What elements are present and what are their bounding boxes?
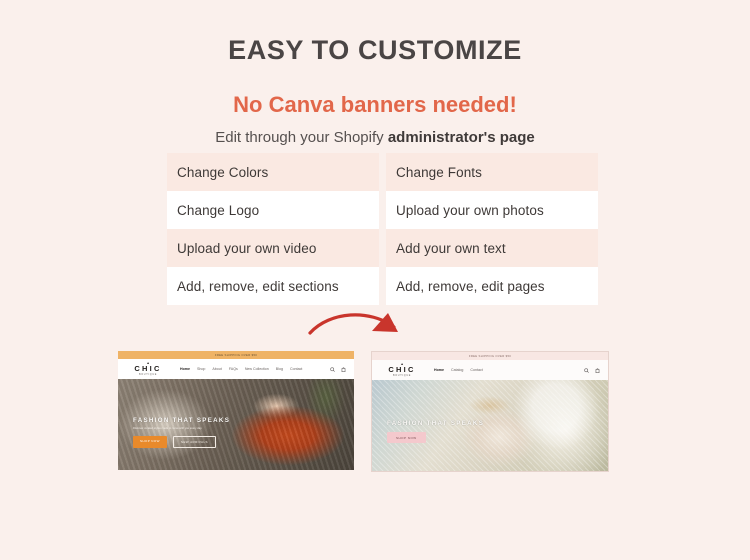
feature-row: Change Logo: [167, 191, 379, 229]
storefront-navbar: ▲ CHIC BOUTIQUE Home Catalog Contact: [372, 360, 608, 380]
feature-row: Add, remove, edit sections: [167, 267, 379, 305]
feature-row: Upload your own video: [167, 229, 379, 267]
store-logo-text: CHIC: [134, 365, 161, 373]
nav-link[interactable]: Shop: [197, 367, 205, 371]
storefront-nav-links: Home Shop About FAQs New Collection Blog…: [180, 367, 302, 371]
hero-title: FASHION THAT SPEAKS: [387, 420, 507, 427]
hero-buttons: SHOP NOW NEW ARRIVALS: [133, 436, 253, 448]
hero-title: FASHION THAT SPEAKS: [133, 417, 253, 424]
storefront-hero-after: FASHION THAT SPEAKS SHOP NOW: [372, 380, 608, 472]
cart-icon[interactable]: [595, 368, 600, 373]
page-subtitle: No Canva banners needed!: [0, 91, 750, 119]
hero-primary-button[interactable]: SHOP NOW: [387, 432, 426, 443]
feature-column-right: Change Fonts Upload your own photos Add …: [386, 153, 598, 305]
search-icon[interactable]: [584, 368, 589, 373]
feature-row: Change Fonts: [386, 153, 598, 191]
nav-link[interactable]: Contact: [290, 367, 302, 371]
nav-link[interactable]: Blog: [276, 367, 283, 371]
nav-link[interactable]: About: [212, 367, 221, 371]
nav-link[interactable]: Home: [434, 368, 444, 372]
page-note-emphasis: administrator's page: [388, 129, 535, 146]
feature-row: Upload your own photos: [386, 191, 598, 229]
feature-table: Change Colors Change Logo Upload your ow…: [167, 153, 598, 305]
page-title: EASY TO CUSTOMIZE: [0, 34, 750, 68]
hero-secondary-button[interactable]: NEW ARRIVALS: [173, 436, 216, 448]
nav-link[interactable]: Home: [180, 367, 190, 371]
nav-link[interactable]: New Collection: [245, 367, 269, 371]
hero-content: FASHION THAT SPEAKS Discover curated sty…: [133, 417, 253, 448]
slide-canvas: EASY TO CUSTOMIZE No Canva banners neede…: [0, 0, 750, 560]
nav-link[interactable]: Contact: [470, 368, 482, 372]
hero-content: FASHION THAT SPEAKS SHOP NOW: [387, 420, 507, 443]
storefront-nav-icons: [330, 367, 346, 372]
storefront-hero-before: FASHION THAT SPEAKS Discover curated sty…: [118, 379, 354, 470]
feature-row: Add, remove, edit pages: [386, 267, 598, 305]
nav-link[interactable]: Catalog: [451, 368, 463, 372]
nav-link[interactable]: FAQs: [229, 367, 238, 371]
store-logo-sub: BOUTIQUE: [393, 374, 411, 377]
page-note: Edit through your Shopify administrator'…: [0, 128, 750, 148]
announcement-bar: FREE SHIPPING OVER $50: [372, 352, 608, 360]
cart-icon[interactable]: [341, 367, 346, 372]
storefront-nav-icons: [584, 368, 600, 373]
storefront-nav-links: Home Catalog Contact: [434, 368, 483, 372]
feature-row: Change Colors: [167, 153, 379, 191]
store-logo: ▲ CHIC BOUTIQUE: [380, 363, 424, 377]
hero-primary-button[interactable]: SHOP NOW: [133, 436, 167, 448]
storefront-mockup-before: FREE SHIPPING OVER $50 ▲ CHIC BOUTIQUE H…: [118, 351, 354, 470]
storefront-navbar: ▲ CHIC BOUTIQUE Home Shop About FAQs New…: [118, 359, 354, 379]
store-logo-text: CHIC: [388, 366, 415, 374]
announcement-bar: FREE SHIPPING OVER $50: [118, 351, 354, 359]
feature-row: Add your own text: [386, 229, 598, 267]
store-logo: ▲ CHIC BOUTIQUE: [126, 362, 170, 376]
hero-subtitle: Discover curated styles made to move wit…: [133, 427, 238, 431]
feature-column-left: Change Colors Change Logo Upload your ow…: [167, 153, 379, 305]
storefront-mockup-after: FREE SHIPPING OVER $50 ▲ CHIC BOUTIQUE H…: [371, 351, 609, 472]
page-note-prefix: Edit through your Shopify: [215, 129, 388, 146]
curved-arrow-icon: [300, 305, 420, 355]
search-icon[interactable]: [330, 367, 335, 372]
store-logo-sub: BOUTIQUE: [139, 373, 157, 376]
heading-block: EASY TO CUSTOMIZE No Canva banners neede…: [0, 34, 750, 148]
hero-buttons: SHOP NOW: [387, 432, 507, 443]
